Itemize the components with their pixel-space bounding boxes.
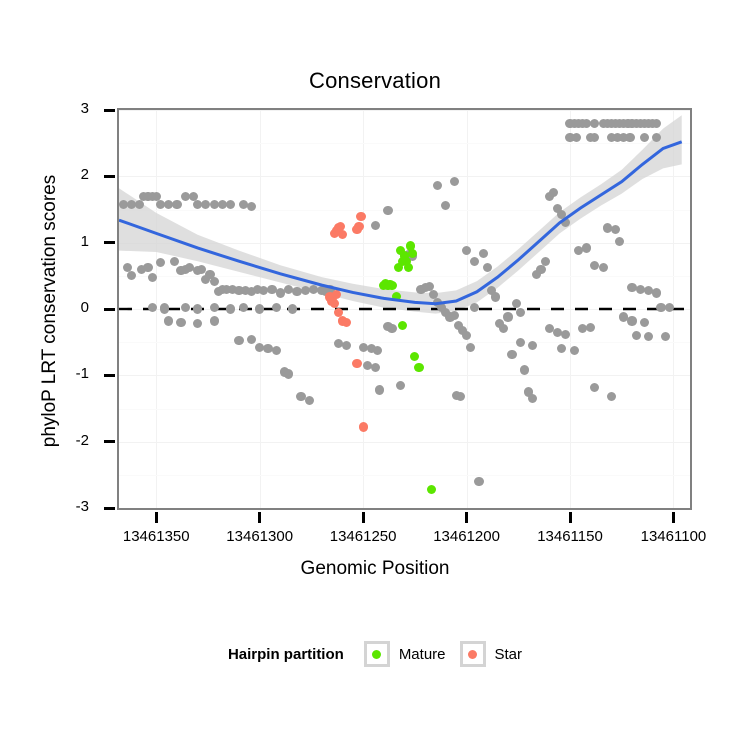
red-dot-icon <box>468 650 477 659</box>
trend-line-svg <box>119 110 690 508</box>
loess-trend-line <box>119 142 682 304</box>
green-dot-icon <box>372 650 381 659</box>
x-axis-tick <box>155 512 158 523</box>
legend-label-star: Star <box>495 646 523 663</box>
y-axis-tick <box>104 175 115 178</box>
y-axis-title: phyloP LRT conservation scores <box>39 101 61 521</box>
y-axis-tick <box>104 374 115 377</box>
x-axis-tick-label: 13461200 <box>407 528 527 545</box>
plot-panel <box>117 108 692 510</box>
legend-key-star <box>460 641 486 667</box>
y-axis-tick <box>104 308 115 311</box>
page-title: Conservation <box>0 68 750 94</box>
x-axis-title: Genomic Position <box>0 558 750 580</box>
plot-area <box>119 110 690 508</box>
x-axis-tick-label: 13461300 <box>200 528 320 545</box>
y-axis-tick <box>104 241 115 244</box>
x-axis-tick-label: 13461350 <box>96 528 216 545</box>
legend-entry-star[interactable]: Star <box>460 641 523 667</box>
x-axis-tick-label: 13461250 <box>303 528 423 545</box>
x-axis-tick-label: 13461150 <box>510 528 630 545</box>
legend-title: Hairpin partition <box>228 646 344 663</box>
trend-line-layer <box>119 110 690 508</box>
y-axis-tick <box>104 109 115 112</box>
x-axis-tick-label: 13461100 <box>613 528 733 545</box>
x-axis-tick <box>569 512 572 523</box>
x-axis-tick <box>362 512 365 523</box>
y-axis-tick <box>104 507 115 510</box>
chart-root: Conservation 3210-1-2-313461350134613001… <box>0 0 750 750</box>
legend-label-mature: Mature <box>399 646 446 663</box>
x-axis-tick <box>672 512 675 523</box>
x-axis-tick <box>465 512 468 523</box>
legend: Hairpin partition Mature Star <box>0 641 750 667</box>
x-axis-tick <box>258 512 261 523</box>
y-axis-tick <box>104 440 115 443</box>
legend-key-mature <box>364 641 390 667</box>
legend-entry-mature[interactable]: Mature <box>364 641 446 667</box>
